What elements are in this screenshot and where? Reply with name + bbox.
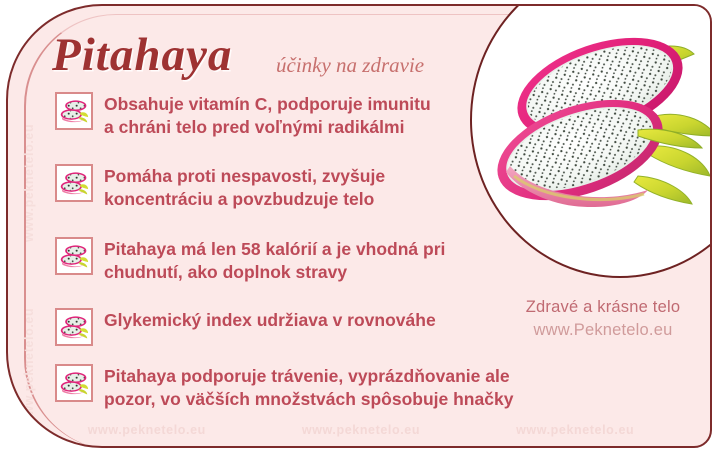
list-item-text: Obsahuje vitamín C, podporuje imunitu a …: [104, 92, 431, 140]
list-item: Pitahaya má len 58 kalórií a je vhodná p…: [55, 237, 445, 285]
fruit-photo-oval: [470, 4, 712, 278]
list-item-text: Pitahaya podporuje trávenie, vyprázdňova…: [104, 364, 513, 412]
dragon-fruit-icon: [55, 237, 93, 275]
watermark-text: www.peknetelo.eu: [88, 423, 206, 437]
watermark-row: www.peknetelo.eu www.peknetelo.eu www.pe…: [8, 423, 712, 437]
dragon-fruit-icon: [55, 308, 93, 346]
page-subtitle: účinky na zdravie: [276, 53, 424, 78]
dragon-fruit-icon: [55, 164, 93, 202]
dragon-fruit-image: [488, 26, 712, 214]
list-item: Pomáha proti nespavosti, zvyšuje koncent…: [55, 164, 385, 212]
list-item: Glykemický index udržiava v rovnováhe: [55, 308, 436, 346]
watermark-text: www.peknetelo.eu: [302, 423, 420, 437]
signoff-website: www.Peknetelo.eu: [498, 321, 708, 340]
page-title: Pitahaya: [52, 28, 232, 82]
signoff-tagline: Zdravé a krásne telo: [498, 298, 708, 317]
list-item-text: Pomáha proti nespavosti, zvyšuje koncent…: [104, 164, 385, 212]
dragon-fruit-icon: [55, 364, 93, 402]
card-frame: www.peknetelo.eu www.peknetelo.eu: [6, 4, 712, 448]
watermark-vertical: www.peknetelo.eu: [22, 308, 36, 426]
list-item: Pitahaya podporuje trávenie, vyprázdňova…: [55, 364, 513, 412]
signoff-block: Zdravé a krásne telo www.Peknetelo.eu: [498, 298, 708, 340]
watermark-text: www.peknetelo.eu: [516, 423, 634, 437]
list-item: Obsahuje vitamín C, podporuje imunitu a …: [55, 92, 431, 140]
list-item-text: Pitahaya má len 58 kalórií a je vhodná p…: [104, 237, 445, 285]
watermark-vertical: www.peknetelo.eu: [22, 124, 36, 242]
infographic-poster: www.peknetelo.eu www.peknetelo.eu: [0, 0, 720, 456]
list-item-text: Glykemický index udržiava v rovnováhe: [104, 308, 436, 332]
dragon-fruit-icon: [55, 92, 93, 130]
